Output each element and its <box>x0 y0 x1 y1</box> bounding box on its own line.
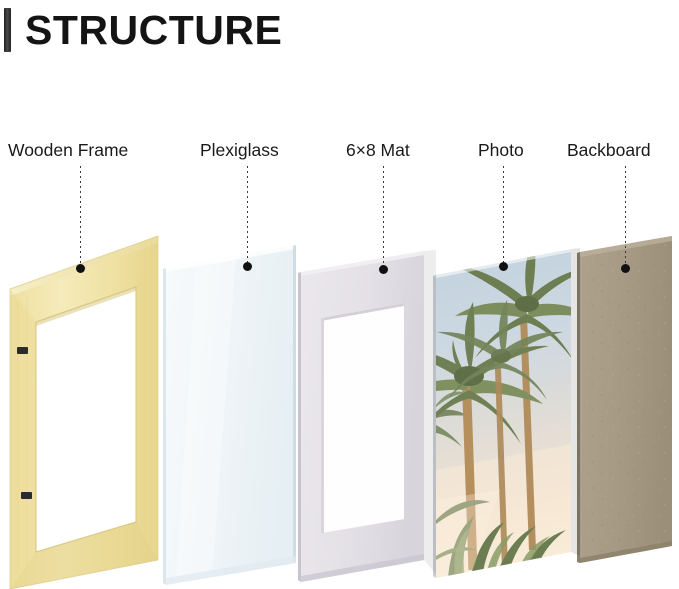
leader-line-wooden-frame <box>80 166 81 268</box>
exploded-view-diagram <box>0 0 679 589</box>
layer-photo <box>387 236 597 578</box>
layer-mat <box>298 250 436 582</box>
leader-dot-photo <box>499 262 508 271</box>
label-photo: Photo <box>478 140 524 160</box>
title-accent-bar <box>4 8 11 52</box>
frame-hardware-notch-upper <box>17 347 28 354</box>
leader-line-photo <box>503 166 504 266</box>
label-backboard: Backboard <box>567 140 651 160</box>
label-mat: 6×8 Mat <box>346 140 410 160</box>
leader-line-plexiglass <box>247 166 248 266</box>
layer-backboard <box>577 236 672 563</box>
leader-dot-mat <box>379 265 388 274</box>
layer-wooden-frame <box>10 236 158 589</box>
layer-plexiglass <box>163 245 296 585</box>
leader-line-mat <box>383 166 384 269</box>
title-label: STRUCTURE <box>25 8 282 52</box>
label-plexiglass: Plexiglass <box>200 140 279 160</box>
label-wooden-frame: Wooden Frame <box>8 140 128 160</box>
leader-dot-plexiglass <box>243 262 252 271</box>
leader-dot-backboard <box>621 264 630 273</box>
leader-line-backboard <box>625 166 626 268</box>
page-title: STRUCTURE <box>0 8 282 52</box>
leader-dot-wooden-frame <box>76 264 85 273</box>
frame-hardware-notch-lower <box>21 492 32 499</box>
